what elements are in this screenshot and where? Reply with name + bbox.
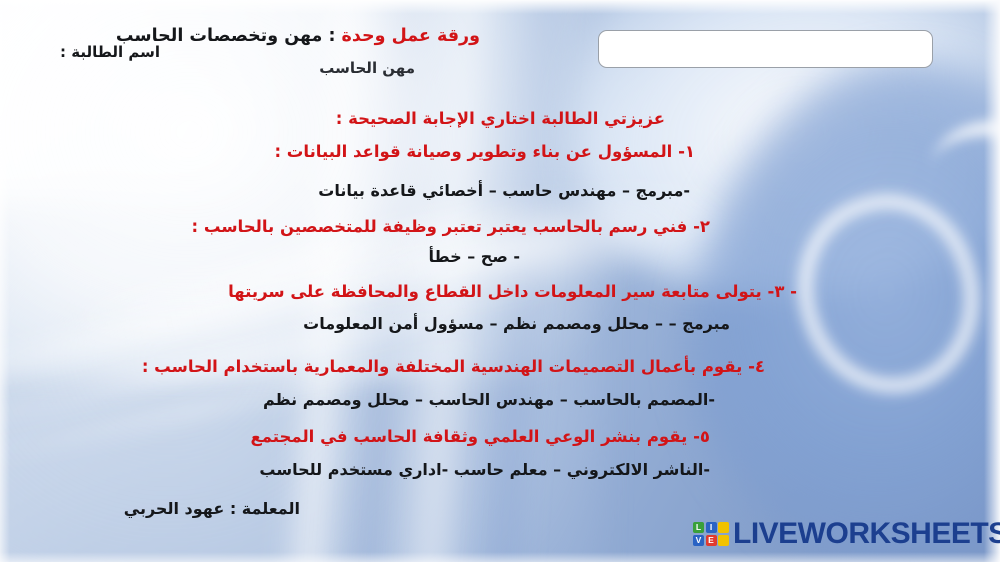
teacher-name: المعلمة : عهود الحربي (124, 500, 300, 518)
question-5-options[interactable]: -الناشر الالكتروني – معلم حاسب -اداري مس… (259, 461, 710, 479)
question-1-text: ١- المسؤول عن بناء وتطوير وصيانة قواعد ا… (274, 143, 695, 161)
question-2-text: ٢- فني رسم بالحاسب يعتبر تعتبر وظيفة للم… (192, 218, 710, 236)
worksheet-page: ورقة عمل وحدة : مهن وتخصصات الحاسب مهن ا… (0, 0, 1000, 562)
question-4-options[interactable]: -المصمم بالحاسب – مهندس الحاسب – محلل وم… (263, 391, 715, 409)
page-subtitle: مهن الحاسب (319, 60, 415, 77)
question-3-options[interactable]: مبرمج – – محلل ومصمم نظم – مسؤول أمن الم… (303, 315, 730, 333)
student-name-label: اسم الطالبة : (60, 44, 160, 61)
logo-tile-blank-top (718, 522, 729, 533)
page-title: ورقة عمل وحدة : مهن وتخصصات الحاسب (116, 27, 480, 46)
page-title-red: ورقة عمل وحدة (342, 26, 480, 46)
liveworksheets-wordmark: LIVEWORKSHEETS (733, 519, 1000, 549)
question-2-options[interactable]: - صح – خطأ (429, 248, 520, 266)
instruction-line: عزيزتي الطالبة اختاري الإجابة الصحيحة : (336, 110, 665, 128)
student-name-input[interactable] (598, 30, 933, 68)
question-3-text: - ٣- يتولى متابعة سير المعلومات داخل الق… (228, 283, 797, 301)
logo-tile-v: V (693, 535, 704, 546)
logo-tile-e: E (706, 535, 717, 546)
question-5-text: ٥- يقوم بنشر الوعي العلمي وثقافة الحاسب … (250, 428, 710, 446)
liveworksheets-logo-tiles: L I V E (693, 522, 729, 546)
question-1-options[interactable]: -مبرمج – مهندس حاسب – أخصائي قاعدة بيانا… (318, 182, 690, 200)
logo-tile-l: L (693, 522, 704, 533)
liveworksheets-logo: L I V E LIVEWORKSHEETS (693, 519, 1000, 549)
logo-tile-i: I (706, 522, 717, 533)
logo-tile-blank-bottom (718, 535, 729, 546)
question-4-text: ٤- يقوم بأعمال التصميمات الهندسية المختل… (142, 358, 765, 376)
